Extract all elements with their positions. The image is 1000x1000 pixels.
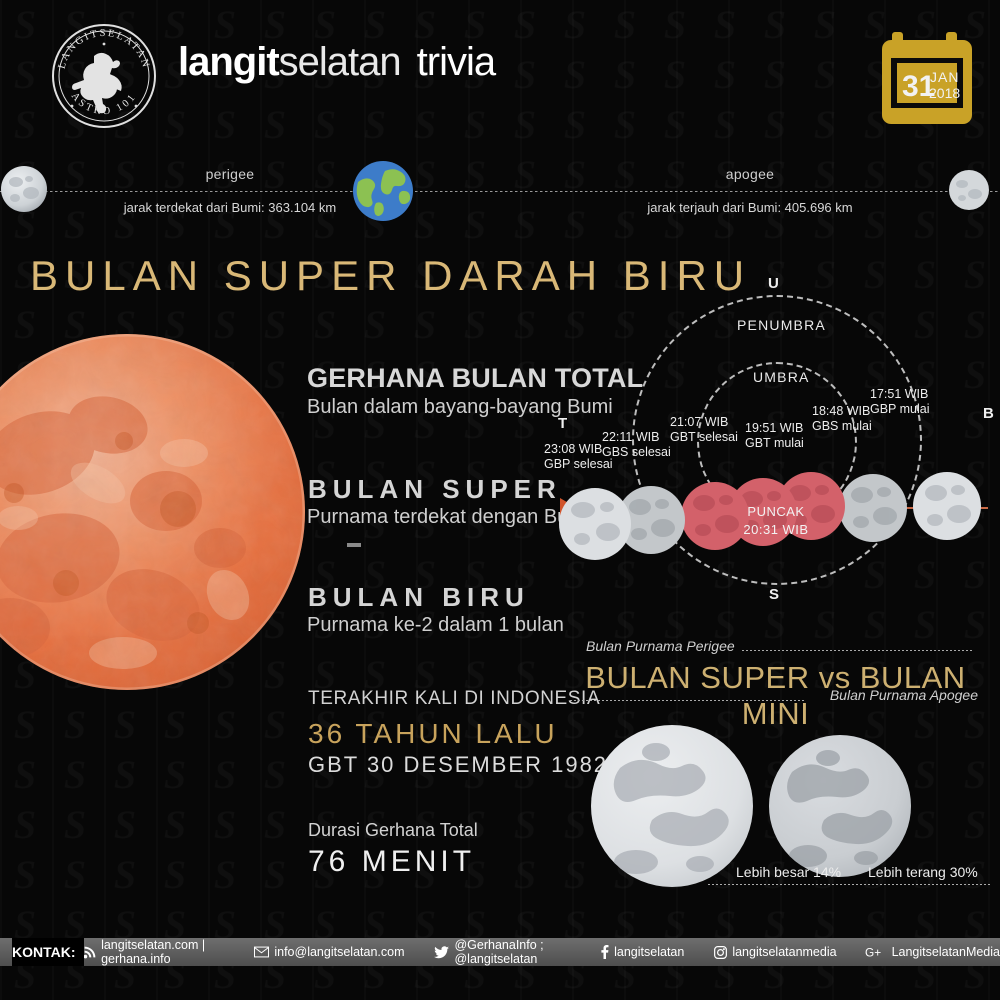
instagram-icon — [714, 946, 727, 959]
caption-bigger: Lebih besar 14% — [736, 864, 841, 880]
googleplus-icon: G+ — [865, 946, 887, 959]
dotline-top — [742, 650, 972, 651]
envelope-icon — [254, 946, 269, 958]
brand-part-3: trivia — [417, 40, 495, 84]
phase-label-4: 19:51 WIB GBT mulai — [745, 421, 804, 451]
footer-item-googleplus[interactable]: G+ LangitselatanMedia — [865, 938, 1000, 966]
phase-event-6: GBP mulai — [870, 402, 930, 417]
footer-text-website: langitselatan.com | gerhana.info — [101, 938, 220, 966]
moon-icon-perigee — [0, 165, 48, 213]
apogee-label: apogee — [620, 166, 880, 182]
super-vs-mini-sub-left: Bulan Purnama Perigee — [586, 638, 735, 654]
eclipse-diagram: U S T B PENUMBRA UMBRA — [540, 275, 1000, 615]
peak-block: PUNCAK 20:31 WIB — [716, 503, 836, 539]
minimoon-image — [768, 734, 912, 878]
facebook-icon — [600, 945, 609, 959]
twitter-icon — [434, 946, 449, 959]
rss-icon — [83, 946, 96, 959]
brand-part-2: selatan — [279, 40, 401, 84]
perigee-label: perigee — [100, 166, 360, 182]
phase-label-6: 17:51 WIB GBP mulai — [870, 387, 930, 417]
phase-event-1: GBP selesai — [544, 457, 613, 472]
footer-text-email: info@langitselatan.com — [274, 945, 404, 959]
eclipse-moon-gbp-mulai — [912, 471, 982, 541]
cardinal-south-label: S — [769, 586, 779, 603]
duration-label: Durasi Gerhana Total — [308, 820, 478, 841]
apogee-distance: jarak terjauh dari Bumi: 405.696 km — [570, 200, 930, 215]
kontak-label: KONTAK: — [12, 938, 84, 966]
footer-item-twitter[interactable]: @GerhanaInfo ; @langitselatan — [434, 938, 572, 966]
moon-icon-apogee — [948, 169, 990, 211]
dotline-captions — [708, 884, 990, 885]
phase-time-5: 18:48 WIB — [812, 404, 872, 419]
fact-heading-2: BULAN SUPER — [308, 474, 562, 505]
langitselatan-logo: LANGITSELATAN ASTRO 101 — [50, 22, 158, 130]
super-vs-mini-sub-right: Bulan Purnama Apogee — [830, 687, 978, 703]
cardinal-east-label: T — [558, 415, 567, 432]
orbit-dotted-line — [0, 190, 1000, 192]
phase-label-5: 18:48 WIB GBS mulai — [812, 404, 872, 434]
svg-text:G+: G+ — [865, 946, 881, 959]
caption-brighter: Lebih terang 30% — [868, 864, 978, 880]
brand-wordmark: langitselatantrivia — [178, 40, 495, 85]
last-time-value: 36 TAHUN LALU — [308, 718, 558, 750]
phase-event-3: GBT selesai — [670, 430, 738, 445]
dotline-bottom — [570, 700, 806, 701]
phase-label-3: 21:07 WIB GBT selesai — [670, 415, 738, 445]
cardinal-north-label: U — [768, 275, 779, 292]
peak-label: PUNCAK — [716, 503, 836, 521]
perigee-distance: jarak terdekat dari Bumi: 363.104 km — [50, 200, 410, 215]
eclipse-moon-gbp-selesai — [558, 487, 632, 561]
phase-event-5: GBS mulai — [812, 419, 872, 434]
phase-time-3: 21:07 WIB — [670, 415, 738, 430]
cardinal-west-label: B — [983, 405, 994, 422]
umbra-label: UMBRA — [753, 369, 810, 385]
footer-item-email[interactable]: info@langitselatan.com — [254, 938, 404, 966]
phase-label-1: 23:08 WIB GBP selesai — [544, 442, 613, 472]
calendar-icon: 31 JAN 2018 — [880, 30, 974, 126]
footer-item-website[interactable]: langitselatan.com | gerhana.info — [83, 938, 220, 966]
peak-time: 20:31 WIB — [716, 521, 836, 539]
footer-bar: langitselatan.com | gerhana.info info@la… — [0, 938, 1000, 966]
fact-heading-3: BULAN BIRU — [308, 582, 530, 613]
footer-text-instagram: langitselatanmedia — [732, 945, 836, 959]
blood-moon-image — [0, 333, 306, 691]
calendar-year: 2018 — [929, 85, 960, 101]
eclipse-moon-gbs-mulai — [838, 473, 908, 543]
footer-text-googleplus: LangitselatanMedia — [892, 945, 1000, 959]
phase-time-4: 19:51 WIB — [745, 421, 804, 436]
footer-text-facebook: langitselatan — [614, 945, 684, 959]
penumbra-label: PENUMBRA — [737, 317, 826, 333]
infographic-root: SSSSSSSSSSSSSSSSSSSSSSSSSSSSSSSSSSSSSSSS… — [0, 0, 1000, 1000]
phase-event-4: GBT mulai — [745, 436, 804, 451]
divider-dash — [347, 543, 361, 547]
phase-time-6: 17:51 WIB — [870, 387, 930, 402]
brand-part-1: langit — [178, 40, 279, 84]
supermoon-image — [590, 724, 754, 888]
calendar-month: JAN — [930, 69, 959, 85]
footer-text-twitter: @GerhanaInfo ; @langitselatan — [454, 938, 572, 966]
duration-value: 76 MENIT — [308, 845, 475, 879]
phase-time-1: 23:08 WIB — [544, 442, 613, 457]
footer-item-instagram[interactable]: langitselatanmedia — [714, 938, 836, 966]
footer-item-facebook[interactable]: langitselatan — [600, 938, 684, 966]
fact-sub-3: Purnama ke-2 dalam 1 bulan — [307, 614, 564, 637]
last-time-label: TERAKHIR KALI DI INDONESIA — [308, 688, 600, 710]
super-vs-mini-section: Bulan Purnama Perigee BULAN SUPER vs BUL… — [560, 636, 990, 896]
